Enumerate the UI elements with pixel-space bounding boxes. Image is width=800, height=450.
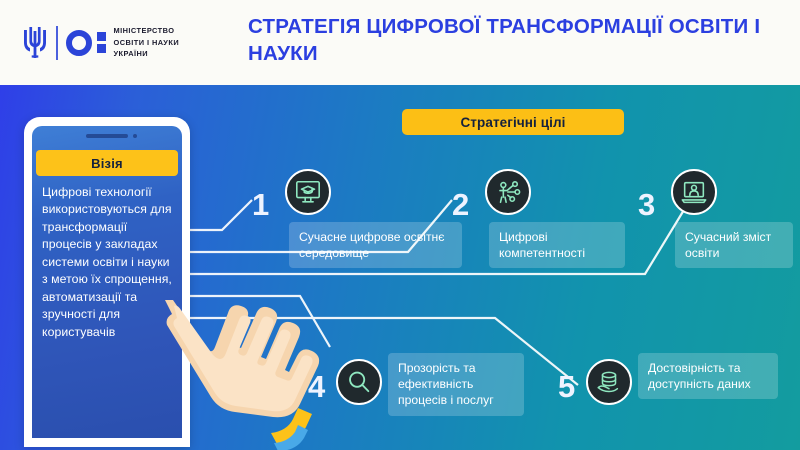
ministry-line-1: МІНІСТЕРСТВО xyxy=(114,25,180,36)
ministry-line-3: УКРАЇНИ xyxy=(114,48,180,59)
ministry-name: МІНІСТЕРСТВО ОСВІТИ І НАУКИ УКРАЇНИ xyxy=(114,25,180,59)
ministry-logo: МІНІСТЕРСТВО ОСВІТИ І НАУКИ УКРАЇНИ xyxy=(22,25,212,59)
goal-label-3: Сучасний зміст освіти xyxy=(675,222,793,268)
phone-speaker-icon xyxy=(86,134,128,138)
logo-divider xyxy=(56,26,58,60)
goal-number-5: 5 xyxy=(558,371,575,402)
goal-number-1: 1 xyxy=(252,189,269,220)
magnifier-icon xyxy=(336,359,382,405)
mon-ring-mark-icon xyxy=(66,30,106,56)
ministry-line-2: ОСВІТИ І НАУКИ xyxy=(114,37,180,48)
monitor-graduation-cap-icon xyxy=(285,169,331,215)
database-on-hand-icon xyxy=(586,359,632,405)
goal-number-4: 4 xyxy=(308,371,325,402)
goal-label-1: Сучасне цифрове освітнє середовище xyxy=(289,222,462,268)
poster-body: Візія Цифрові технології використовуютьс… xyxy=(0,85,800,450)
laptop-person-icon xyxy=(671,169,717,215)
page-title: СТРАТЕГІЯ ЦИФРОВОЇ ТРАНСФОРМАЦІЇ ОСВІТИ … xyxy=(248,14,768,67)
goal-label-2: Цифрові компетентності xyxy=(489,222,625,268)
trident-icon xyxy=(22,26,48,60)
pointing-hand-icon xyxy=(150,300,330,450)
person-network-icon xyxy=(485,169,531,215)
goal-label-5: Достовірність та доступність даних xyxy=(638,353,778,399)
strategic-goals-badge: Стратегічні цілі xyxy=(402,109,624,135)
goal-number-2: 2 xyxy=(452,189,469,220)
goal-label-4: Прозорість та ефективність процесів і по… xyxy=(388,353,524,416)
vision-banner: Візія xyxy=(36,150,178,176)
infographic-poster: МІНІСТЕРСТВО ОСВІТИ І НАУКИ УКРАЇНИ СТРА… xyxy=(0,0,800,450)
goal-number-3: 3 xyxy=(638,189,655,220)
phone-camera-icon xyxy=(133,134,137,138)
